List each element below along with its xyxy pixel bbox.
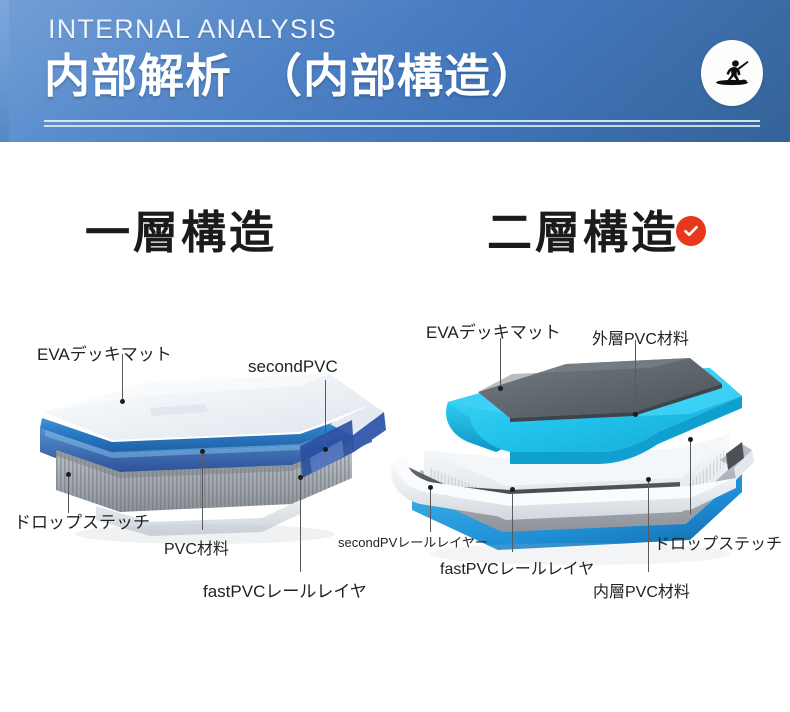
section-title-single-layer: 一層構造 [85, 196, 277, 261]
leader-dot-outer-pvc-material [633, 412, 638, 417]
leader-dot-fast-pvc-rail [510, 487, 515, 492]
callout-fast-pvc-rail: fastPVCレールレイヤ [203, 577, 367, 602]
callout-drop-stitch: ドロップステッチ [654, 530, 782, 554]
leader-dot-fast-pvc-rail [298, 475, 303, 480]
leader-dot-pvc-material [200, 449, 205, 454]
callout-pvc-material: PVC材料 [164, 535, 229, 559]
header-banner: INTERNAL ANALYSIS 内部解析 （内部構造） [0, 0, 790, 142]
diagram-single-layer: EVAデッキマット secondPVC ドロップステッチ PVC材料 fastP… [0, 300, 400, 620]
callout-eva-deck-mat: EVAデッキマット [37, 340, 172, 365]
leader-dot-second-pvc [323, 447, 328, 452]
header-divider [44, 120, 760, 128]
leader-dot-eva-deck-mat [498, 386, 503, 391]
recommended-badge [676, 216, 706, 246]
leader-line-eva-deck-mat [500, 338, 501, 388]
callout-eva-deck-mat: EVAデッキマット [426, 318, 561, 343]
callout-second-pv-rail: secondPVレールレイヤー [338, 532, 488, 551]
callout-second-pvc: secondPVC [248, 357, 338, 377]
page-title: 内部解析 （内部構造） [44, 48, 538, 104]
leader-dot-inner-pvc-material [646, 477, 651, 482]
surfer-paddleboard-icon [710, 51, 754, 95]
leader-dot-drop-stitch [66, 472, 71, 477]
leader-line-drop-stitch [690, 440, 691, 514]
diagram-double-layer: EVAデッキマット 外層PVC材料 secondPVレールレイヤー fastPV… [390, 292, 790, 622]
callout-outer-pvc-material: 外層PVC材料 [592, 325, 689, 349]
callout-fast-pvc-rail: fastPVCレールレイヤ [440, 555, 594, 579]
leader-line-second-pvc [325, 380, 326, 448]
callout-drop-stitch: ドロップステッチ [14, 508, 150, 533]
leader-dot-second-pv-rail [428, 485, 433, 490]
leader-line-pvc-material [202, 452, 203, 530]
internal-analysis-infographic: INTERNAL ANALYSIS 内部解析 （内部構造） 一層構造 二層構造 [0, 0, 790, 712]
leader-line-inner-pvc-material [648, 480, 649, 572]
check-circle-icon [681, 221, 701, 241]
callout-inner-pvc-material: 内層PVC材料 [593, 578, 690, 602]
brand-logo [701, 40, 763, 106]
leader-line-outer-pvc-material [635, 340, 636, 414]
header-divider-line-top [44, 120, 760, 122]
leader-dot-drop-stitch [688, 437, 693, 442]
section-title-double-layer: 二層構造 [487, 196, 679, 261]
header-eyebrow: INTERNAL ANALYSIS [48, 14, 337, 45]
leader-line-second-pv-rail [430, 488, 431, 532]
banner-left-edge [0, 0, 9, 142]
leader-line-fast-pvc-rail [300, 478, 301, 572]
header-divider-line-bottom [44, 125, 760, 127]
leader-dot-eva-deck-mat [120, 399, 125, 404]
leader-line-fast-pvc-rail [512, 490, 513, 552]
